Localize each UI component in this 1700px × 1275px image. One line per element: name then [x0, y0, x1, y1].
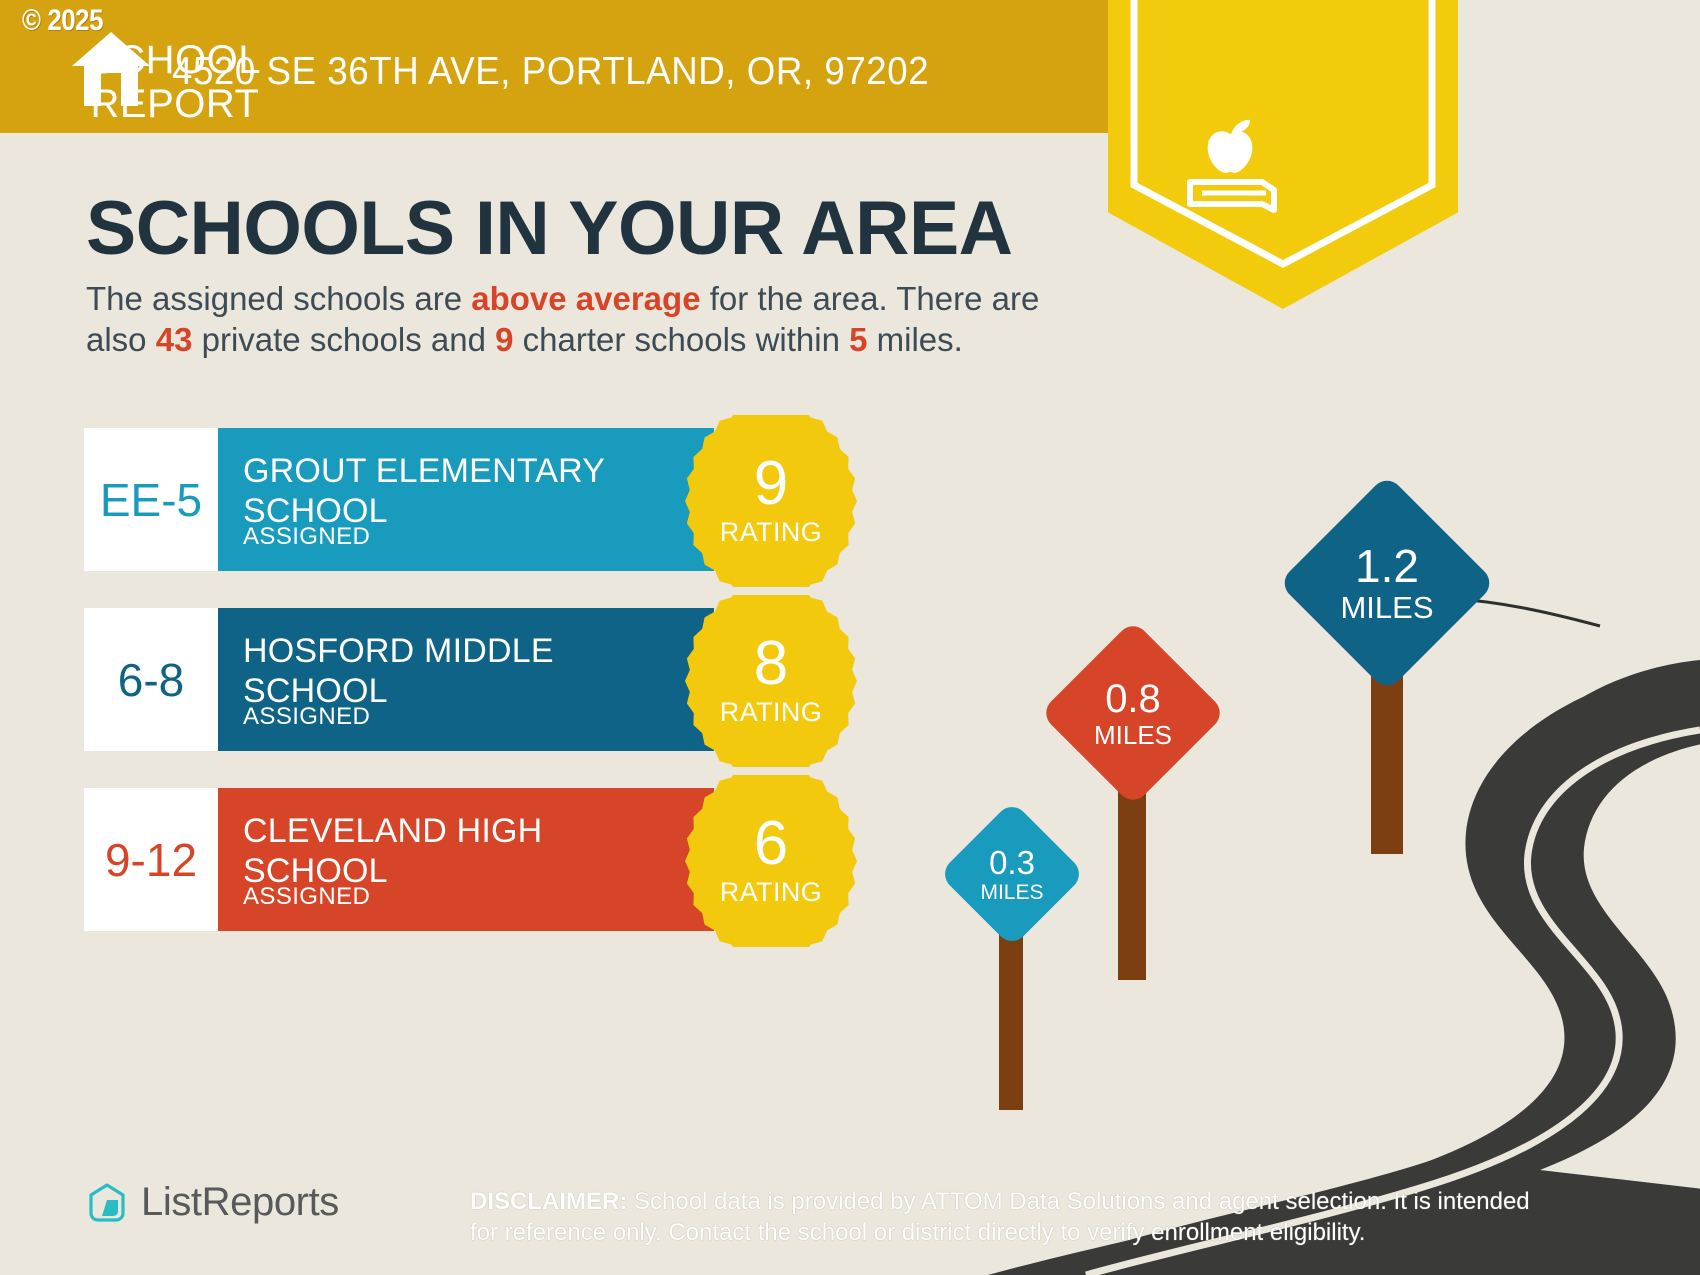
assigned-status: ASSIGNED [243, 703, 370, 731]
grade-range-badge: 6-8 [84, 608, 218, 751]
subtitle-part4: charter schools within [513, 321, 849, 358]
listreports-logo[interactable]: ListReports [85, 1180, 339, 1225]
rating-value: 6 [754, 815, 788, 873]
school-name-line1: CLEVELAND HIGH [243, 811, 714, 851]
listreports-wordmark: ListReports [141, 1180, 339, 1225]
sign-distance-value: 1.2 [1355, 543, 1419, 589]
page-title: SCHOOLS IN YOUR AREA [86, 185, 1013, 272]
rating-value: 8 [754, 635, 788, 693]
subtitle-part3: private schools and [192, 321, 495, 358]
subtitle-highlight-radius: 5 [849, 321, 867, 358]
rating-label: RATING [720, 697, 822, 728]
sign-distance-unit: MILES [980, 882, 1043, 903]
sign-post [999, 930, 1023, 1110]
road-scene: 1.2 MILES 0.8 MILES 0.3 MILES [900, 430, 1700, 1275]
sign-distance-unit: MILES [1094, 722, 1172, 748]
assigned-status: ASSIGNED [243, 523, 370, 551]
school-info: GROUT ELEMENTARY SCHOOL ASSIGNED [218, 428, 714, 571]
grade-range-badge: 9-12 [84, 788, 218, 931]
sign-text-group: 1.2 MILES [1310, 506, 1464, 660]
school-row[interactable]: 9-12 CLEVELAND HIGH SCHOOL ASSIGNED [84, 788, 714, 931]
badge-title-line1: SCHOOL [0, 38, 350, 82]
disclaimer-label: DISCLAIMER: [470, 1188, 627, 1215]
school-info: HOSFORD MIDDLE SCHOOL ASSIGNED [218, 608, 714, 751]
rating-badge: 8 RATING [685, 595, 857, 767]
disclaimer-body: School data is provided by ATTOM Data So… [470, 1188, 1530, 1246]
school-name-line1: GROUT ELEMENTARY [243, 451, 714, 491]
subtitle-highlight-rating: above average [471, 280, 700, 317]
disclaimer-text: DISCLAIMER: School data is provided by A… [470, 1186, 1530, 1248]
rating-label: RATING [720, 877, 822, 908]
subtitle-highlight-private-count: 43 [156, 321, 193, 358]
sign-post [1371, 664, 1403, 854]
sign-distance-unit: MILES [1340, 592, 1433, 623]
rating-value: 9 [754, 455, 788, 513]
school-report-infographic: © 2025 4520 SE 36TH AVE, PORTLAND, OR, 9… [0, 0, 1700, 1275]
sign-text-group: 0.8 MILES [1067, 647, 1199, 779]
rating-badge: 9 RATING [685, 415, 857, 587]
badge-title-line2: REPORT [0, 82, 350, 126]
subtitle-part5: miles. [867, 321, 962, 358]
rating-badge: 6 RATING [685, 775, 857, 947]
grade-range-badge: EE-5 [84, 428, 218, 571]
sign-post [1118, 790, 1146, 980]
school-row[interactable]: EE-5 GROUT ELEMENTARY SCHOOL ASSIGNED [84, 428, 714, 571]
school-name-line1: HOSFORD MIDDLE [243, 631, 714, 671]
apple-on-book-icon [1170, 110, 1290, 220]
assigned-status: ASSIGNED [243, 883, 370, 911]
subtitle-part1: The assigned schools are [86, 280, 471, 317]
badge-title: SCHOOL REPORT [0, 38, 350, 126]
rating-label: RATING [720, 517, 822, 548]
listreports-house-icon [85, 1181, 129, 1225]
sign-distance-value: 0.3 [989, 846, 1035, 879]
sign-distance-value: 0.8 [1105, 679, 1161, 719]
school-info: CLEVELAND HIGH SCHOOL ASSIGNED [218, 788, 714, 931]
sign-text-group: 0.3 MILES [960, 822, 1064, 926]
subtitle-summary: The assigned schools are above average f… [86, 278, 1096, 360]
school-row[interactable]: 6-8 HOSFORD MIDDLE SCHOOL ASSIGNED [84, 608, 714, 751]
subtitle-highlight-charter-count: 9 [495, 321, 513, 358]
